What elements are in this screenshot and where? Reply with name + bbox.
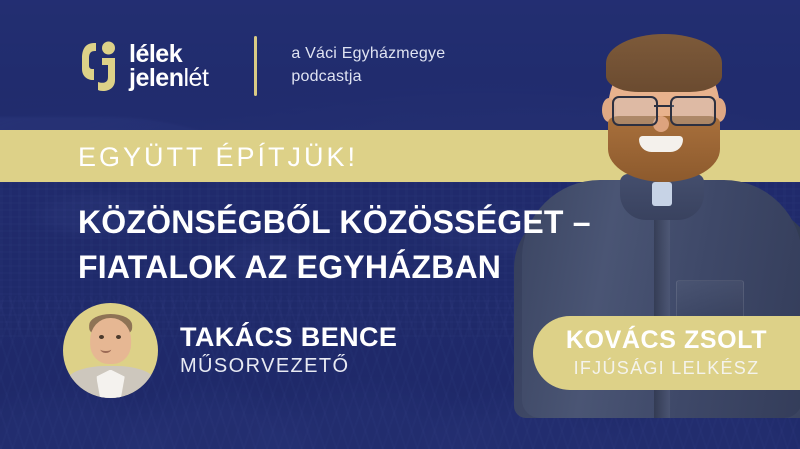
episode-title: KÖZÖNSÉGBŐL KÖZÖSSÉGET – FIATALOK AZ EGY… <box>78 200 678 291</box>
brand-wordmark-line2: jelenlét <box>129 66 208 90</box>
host-avatar <box>63 303 158 398</box>
brand-wordmark-let: lét <box>183 64 208 92</box>
podcast-cover: lélek jelenlét a Váci Egyházmegye podcas… <box>0 0 800 449</box>
brand-logo: lélek jelenlét <box>78 38 208 94</box>
brand-wordmark-jelen: jelen <box>129 64 183 92</box>
guest-lens-right <box>670 96 716 126</box>
guest-name: KOVÁCS ZSOLT <box>566 327 767 355</box>
guest-lens-left <box>612 96 658 126</box>
header-divider <box>254 36 257 96</box>
guest-role: IFJÚSÁGI LELKÉSZ <box>574 358 760 379</box>
host-avatar-smile <box>100 346 111 354</box>
brand-tagline: a Váci Egyházmegye podcastja <box>291 43 445 88</box>
host-avatar-face <box>90 318 132 364</box>
host-block: TAKÁCS BENCE MŰSORVEZETŐ <box>63 303 397 398</box>
host-name: TAKÁCS BENCE <box>180 323 397 353</box>
brand-wordmark-line1: lélek <box>129 42 208 66</box>
eyebrow-label: EGYÜTT ÉPÍTJÜK! <box>78 142 358 173</box>
brand-wordmark: lélek jelenlét <box>129 42 208 90</box>
guest-smile <box>639 136 683 152</box>
guest-glasses-icon <box>612 96 716 122</box>
guest-name-badge: KOVÁCS ZSOLT IFJÚSÁGI LELKÉSZ <box>533 316 800 390</box>
host-text: TAKÁCS BENCE MŰSORVEZETŐ <box>180 323 397 379</box>
brand-header: lélek jelenlét a Váci Egyházmegye podcas… <box>78 36 445 96</box>
quote-mark-icon <box>78 38 120 94</box>
host-role: MŰSORVEZETŐ <box>180 355 397 378</box>
guest-hair <box>606 34 722 92</box>
